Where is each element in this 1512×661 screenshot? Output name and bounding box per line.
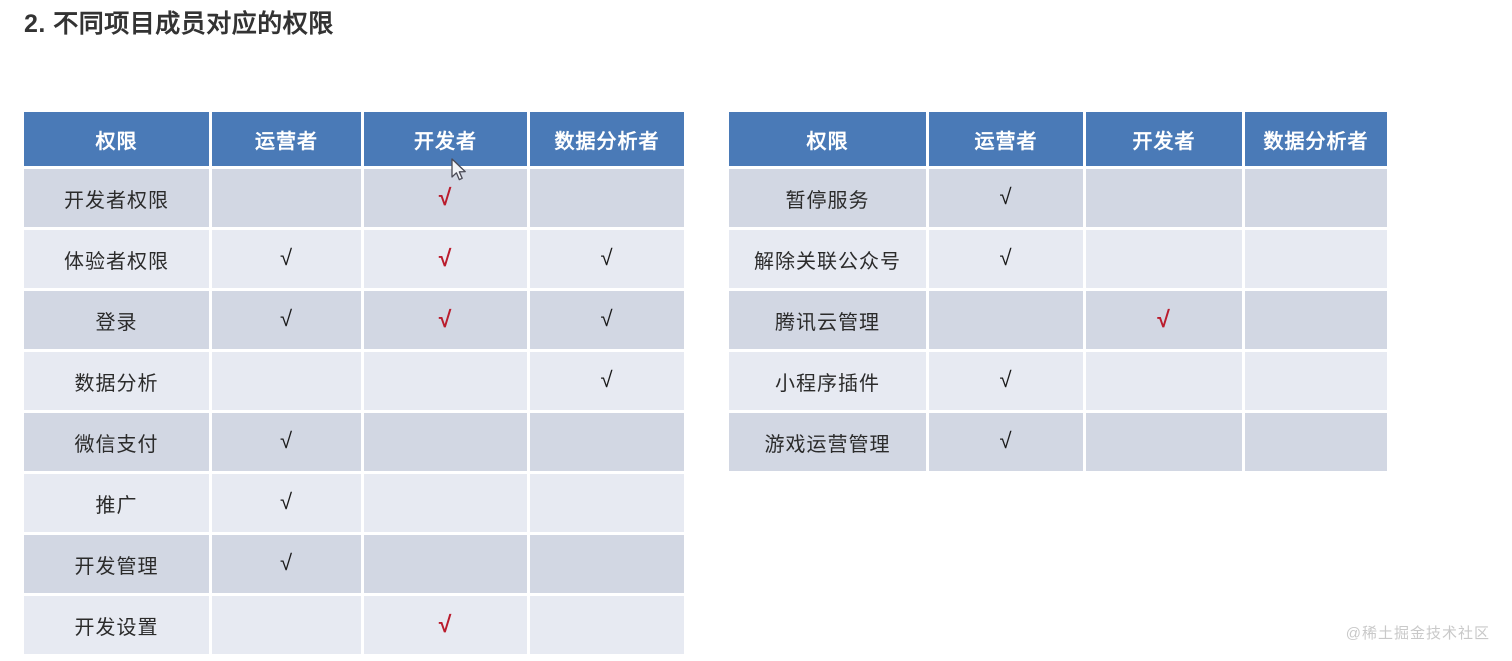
permission-label: 解除关联公众号 [729, 230, 929, 291]
table-row: 开发管理√ [24, 535, 684, 596]
table-body-right: 暂停服务√解除关联公众号√腾讯云管理√小程序插件√游戏运营管理√ [729, 169, 1387, 474]
check-mark-icon: √ [280, 552, 293, 574]
permission-cell [212, 169, 364, 230]
table-row: 开发者权限√ [24, 169, 684, 230]
permissions-table-right: 权限运营者开发者数据分析者 暂停服务√解除关联公众号√腾讯云管理√小程序插件√游… [729, 112, 1387, 474]
permission-cell: √ [530, 291, 684, 352]
permission-cell [1245, 352, 1387, 413]
permission-label: 开发设置 [24, 596, 212, 657]
permission-cell: √ [929, 169, 1086, 230]
permission-label: 开发者权限 [24, 169, 212, 230]
permission-cell [1086, 230, 1245, 291]
permission-cell [1086, 169, 1245, 230]
permission-cell [212, 596, 364, 657]
permission-cell [1245, 413, 1387, 474]
check-mark-icon: √ [600, 369, 613, 391]
table-header-left: 权限运营者开发者数据分析者 [24, 112, 684, 169]
permission-cell [1086, 352, 1245, 413]
table-row: 体验者权限√√√ [24, 230, 684, 291]
column-header-3: 数据分析者 [1245, 112, 1387, 169]
permission-label: 开发管理 [24, 535, 212, 596]
permission-cell: √ [530, 352, 684, 413]
permission-cell: √ [212, 291, 364, 352]
permission-label: 小程序插件 [729, 352, 929, 413]
check-mark-red-icon: √ [439, 247, 453, 270]
check-mark-icon: √ [600, 247, 613, 269]
permission-cell [1245, 291, 1387, 352]
table-row: 微信支付√ [24, 413, 684, 474]
permission-cell [1245, 230, 1387, 291]
permission-label: 腾讯云管理 [729, 291, 929, 352]
permission-cell: √ [364, 169, 530, 230]
permission-cell: √ [929, 230, 1086, 291]
check-mark-red-icon: √ [439, 613, 453, 636]
permission-cell: √ [212, 413, 364, 474]
permission-cell [530, 169, 684, 230]
table-row: 解除关联公众号√ [729, 230, 1387, 291]
table-row: 数据分析√ [24, 352, 684, 413]
permission-label: 登录 [24, 291, 212, 352]
permission-cell [530, 535, 684, 596]
check-mark-icon: √ [999, 369, 1012, 391]
permission-cell [1245, 169, 1387, 230]
permission-cell [364, 474, 530, 535]
permission-cell [530, 474, 684, 535]
check-mark-icon: √ [280, 491, 293, 513]
permission-label: 体验者权限 [24, 230, 212, 291]
permission-cell [364, 535, 530, 596]
check-mark-icon: √ [280, 430, 293, 452]
column-header-0: 权限 [24, 112, 212, 169]
permission-cell: √ [212, 474, 364, 535]
permission-label: 推广 [24, 474, 212, 535]
permission-cell: √ [929, 352, 1086, 413]
permission-label: 暂停服务 [729, 169, 929, 230]
check-mark-icon: √ [280, 308, 293, 330]
check-mark-red-icon: √ [1157, 308, 1171, 331]
column-header-0: 权限 [729, 112, 929, 169]
table-row: 腾讯云管理√ [729, 291, 1387, 352]
table-header-right: 权限运营者开发者数据分析者 [729, 112, 1387, 169]
permission-label: 微信支付 [24, 413, 212, 474]
check-mark-icon: √ [600, 308, 613, 330]
permission-cell: √ [212, 535, 364, 596]
permission-cell: √ [929, 413, 1086, 474]
table-row: 登录√√√ [24, 291, 684, 352]
table-body-left: 开发者权限√体验者权限√√√登录√√√数据分析√微信支付√推广√开发管理√开发设… [24, 169, 684, 657]
header-row: 权限运营者开发者数据分析者 [24, 112, 684, 169]
header-row: 权限运营者开发者数据分析者 [729, 112, 1387, 169]
permission-cell [364, 352, 530, 413]
permission-cell [364, 413, 530, 474]
permission-cell: √ [1086, 291, 1245, 352]
permission-cell [530, 413, 684, 474]
check-mark-red-icon: √ [439, 308, 453, 331]
permission-cell [929, 291, 1086, 352]
check-mark-icon: √ [280, 247, 293, 269]
column-header-3: 数据分析者 [530, 112, 684, 169]
table-row: 游戏运营管理√ [729, 413, 1387, 474]
check-mark-red-icon: √ [439, 186, 453, 209]
permission-cell [212, 352, 364, 413]
permission-cell: √ [530, 230, 684, 291]
permission-cell: √ [212, 230, 364, 291]
watermark: @稀土掘金技术社区 [1346, 622, 1490, 643]
column-header-1: 运营者 [929, 112, 1086, 169]
permission-label: 游戏运营管理 [729, 413, 929, 474]
table-row: 暂停服务√ [729, 169, 1387, 230]
table-row: 开发设置√ [24, 596, 684, 657]
check-mark-icon: √ [999, 186, 1012, 208]
column-header-1: 运营者 [212, 112, 364, 169]
column-header-2: 开发者 [364, 112, 530, 169]
page-title: 2. 不同项目成员对应的权限 [24, 4, 334, 40]
permission-cell [530, 596, 684, 657]
check-mark-icon: √ [999, 247, 1012, 269]
table-row: 推广√ [24, 474, 684, 535]
permission-label: 数据分析 [24, 352, 212, 413]
permissions-table-left: 权限运营者开发者数据分析者 开发者权限√体验者权限√√√登录√√√数据分析√微信… [24, 112, 684, 657]
check-mark-icon: √ [999, 430, 1012, 452]
table-row: 小程序插件√ [729, 352, 1387, 413]
permission-cell: √ [364, 291, 530, 352]
permission-cell: √ [364, 230, 530, 291]
permission-cell [1086, 413, 1245, 474]
column-header-2: 开发者 [1086, 112, 1245, 169]
permission-cell: √ [364, 596, 530, 657]
